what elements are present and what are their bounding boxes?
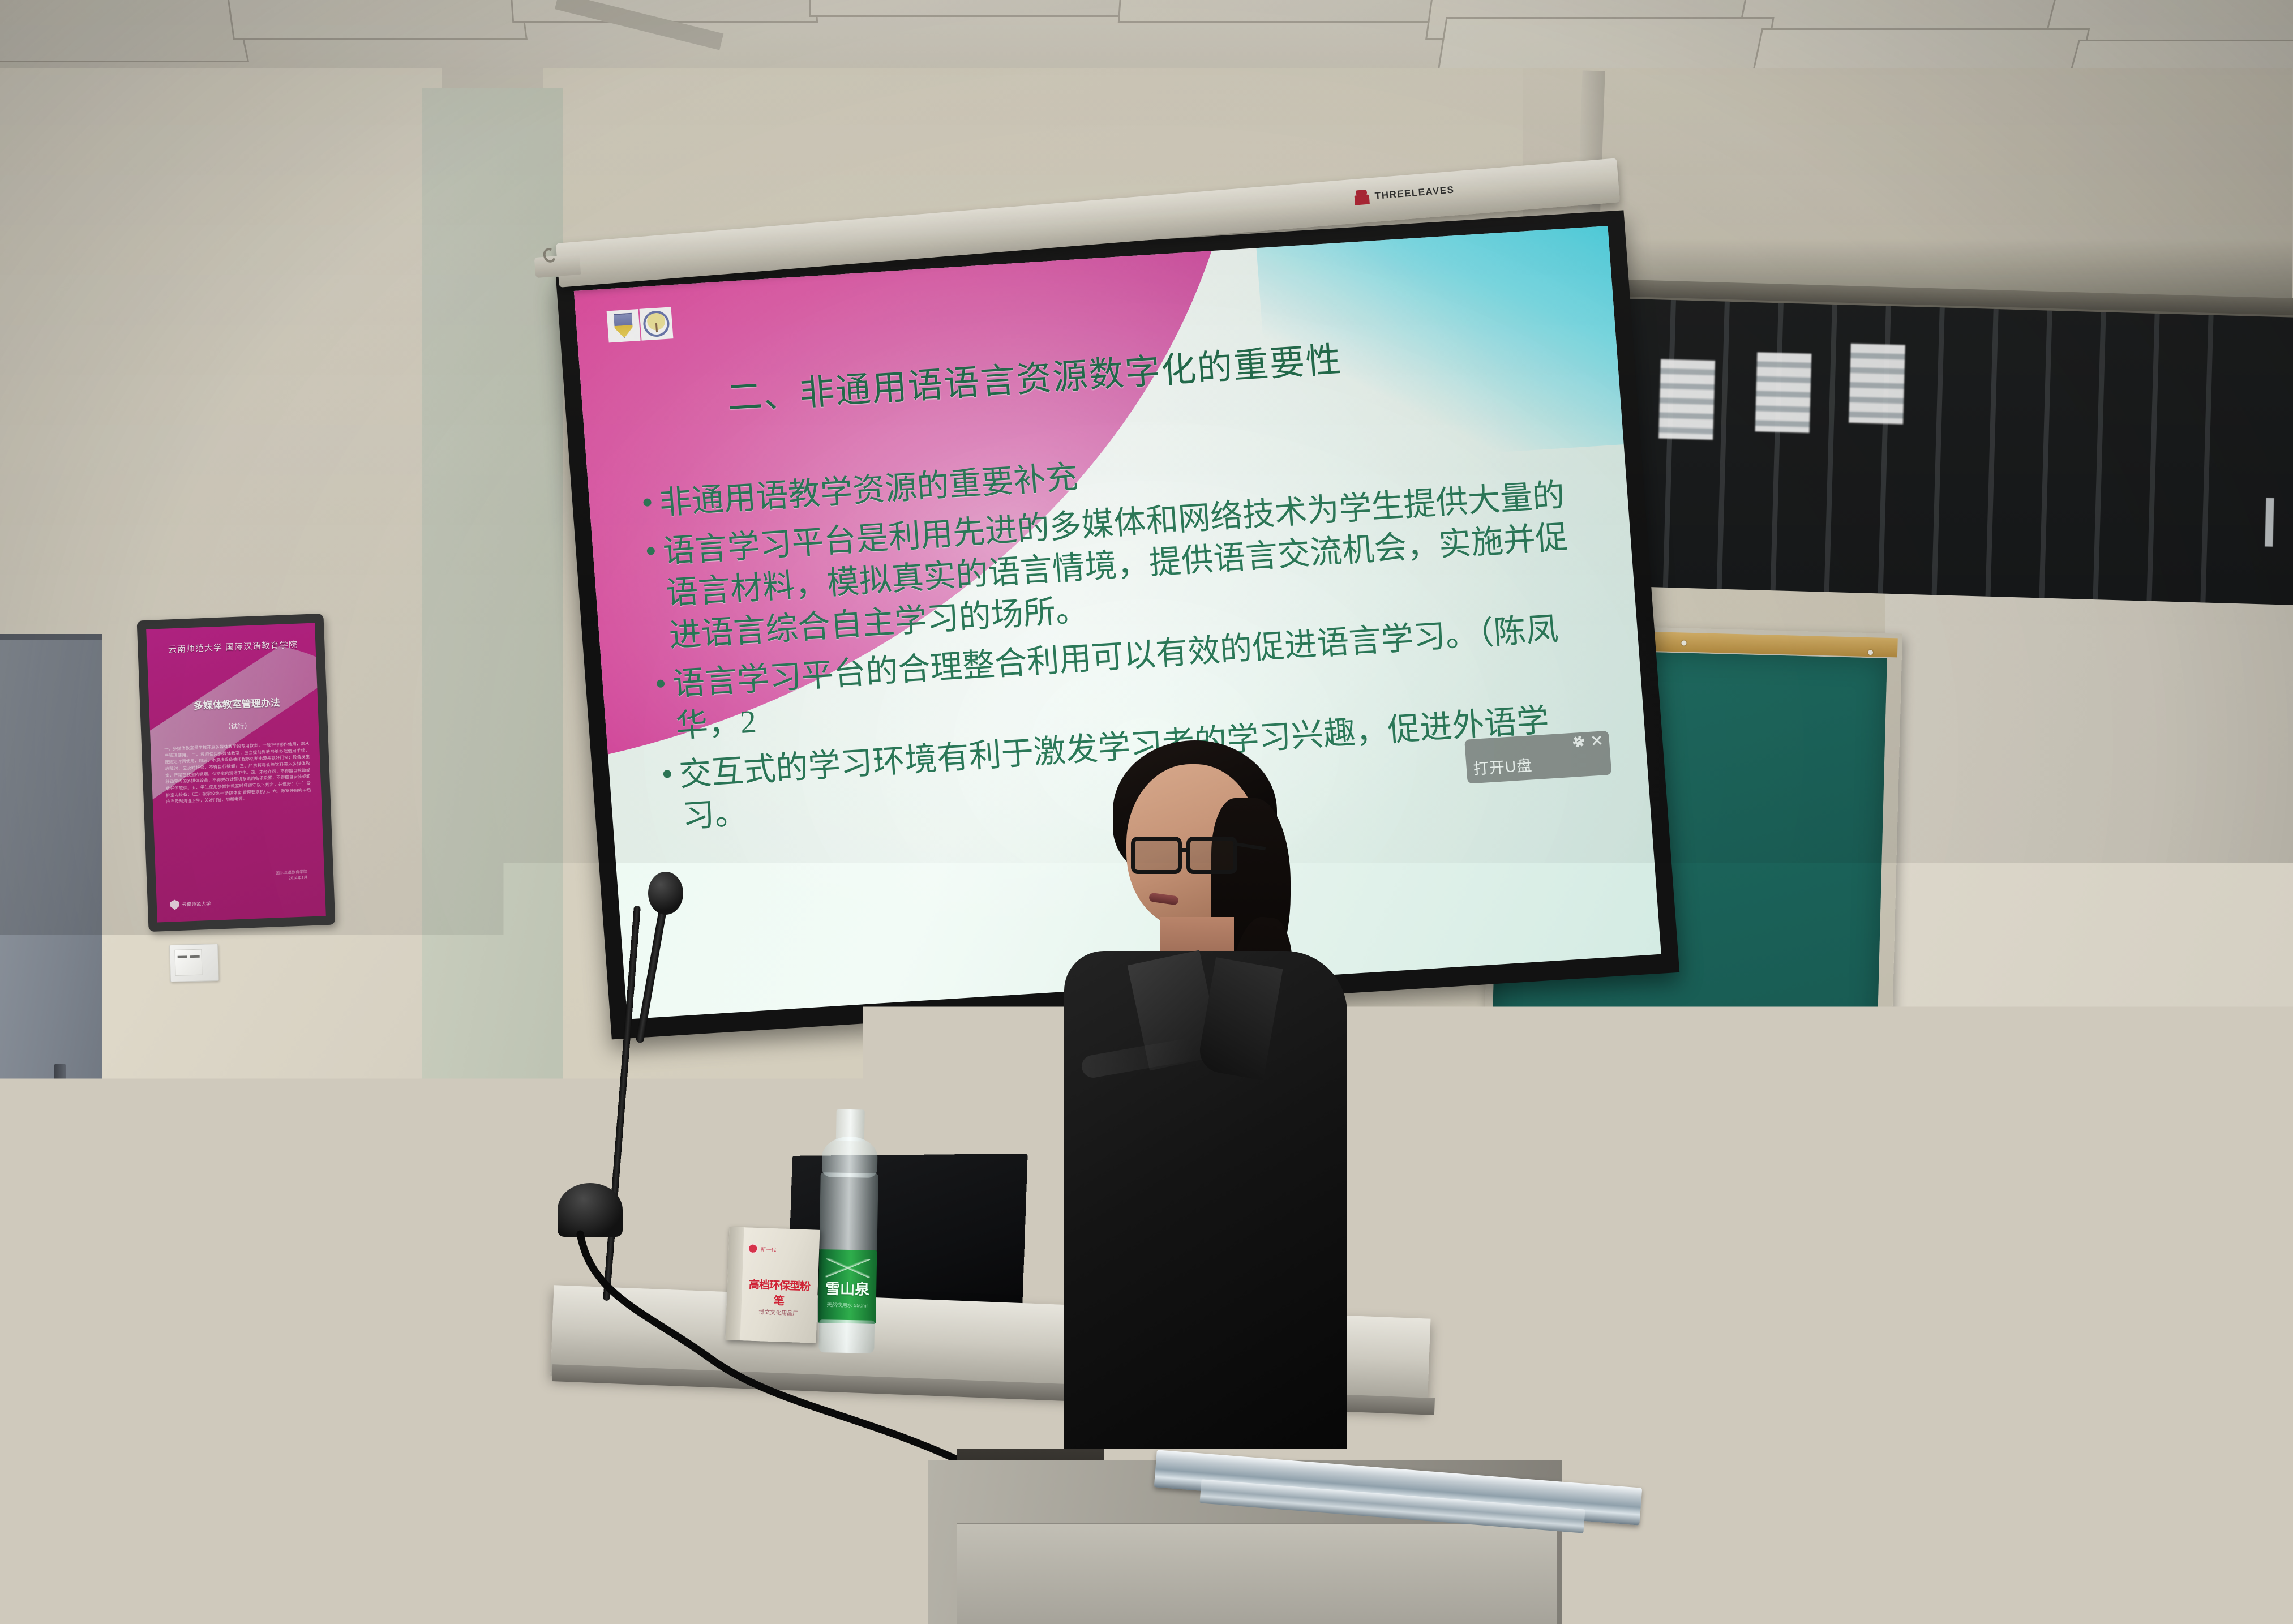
three-leaf-logo-icon (1354, 190, 1370, 205)
classroom-presentation-photo: 云南师范大学 国际汉语教育学院 多媒体教室管理办法 （试行） 一、多媒体教室是学… (0, 0, 2293, 1624)
switch-rocker-left[interactable] (174, 949, 202, 976)
bottle-shoulder (822, 1136, 878, 1178)
left-cabinet-door[interactable] (0, 634, 102, 1189)
slide-logos (606, 307, 673, 342)
window-light-reflection (1849, 344, 1905, 425)
wall-light-switch[interactable] (169, 944, 219, 982)
presenter (1042, 730, 1358, 1443)
close-icon[interactable] (1591, 735, 1602, 747)
wall-above-window (1523, 68, 2292, 306)
usb-toast-label: 打开U盘 (1472, 753, 1533, 778)
poster-footer-date: 2014年1月 (276, 876, 307, 883)
bottle-label-sub: 天然饮用水 550ml (818, 1301, 876, 1309)
desk-drawer-panel[interactable] (957, 1523, 1557, 1624)
chalk-brand-icon (748, 1243, 758, 1254)
tree-emblem-logo-icon (639, 307, 673, 340)
microphone-head (648, 872, 683, 915)
mountain-icon (826, 1258, 870, 1278)
screen-roller-end (534, 254, 581, 278)
bottle-label: 雪山泉 天然饮用水 550ml (818, 1249, 877, 1324)
water-bottle[interactable]: 雪山泉 天然饮用水 550ml (813, 1109, 884, 1353)
poster-body-text: 一、多媒体教室是学校开展多媒体教学的专用教室，一般不得挪作他用，需从严管理使用。… (164, 740, 311, 805)
wall-poster: 云南师范大学 国际汉语教育学院 多媒体教室管理办法 （试行） 一、多媒体教室是学… (137, 614, 336, 932)
usb-notification-toast[interactable]: 打开U盘 (1464, 731, 1611, 784)
poster-logo-text: 云南师范大学 (182, 901, 211, 908)
window-latch (2265, 498, 2274, 546)
gear-icon[interactable] (1572, 736, 1584, 748)
bullet-dot-icon (657, 679, 665, 688)
bottle-brand-name: 雪山泉 (818, 1277, 877, 1299)
screen-brand-label: THREELEAVES (1374, 185, 1455, 202)
bullet-dot-icon (647, 547, 655, 555)
poster-shield-icon (170, 899, 179, 910)
poster-title: 多媒体教室管理办法 (166, 693, 308, 713)
microphone-base (558, 1183, 623, 1237)
glasses-bridge (1181, 848, 1190, 852)
bullet-dot-icon (663, 770, 671, 778)
bottle-upper-body (819, 1172, 878, 1253)
cabinet-handle[interactable] (54, 1064, 66, 1132)
glasses-left-lens-icon (1131, 837, 1182, 874)
chalk-box-title: 高档环保型粉笔 (745, 1276, 814, 1309)
chalk-brand-label: 新一代 (761, 1245, 776, 1253)
bottle-base (818, 1319, 875, 1353)
bullet-dot-icon (643, 498, 652, 507)
chalk-box-flap (726, 1227, 744, 1340)
chair-highlight (1975, 1336, 2077, 1523)
window-light-reflection (1755, 352, 1812, 433)
chalk-box[interactable]: 新一代 高档环保型粉笔 博文文化用品厂 (726, 1227, 820, 1343)
window-light-reflection (1658, 359, 1715, 440)
chalk-tray (1482, 1283, 1879, 1324)
chalk-box-maker: 博文文化用品厂 (744, 1306, 812, 1317)
left-lower-panel (0, 1138, 413, 1624)
glasses-right-lens-icon (1186, 837, 1237, 874)
university-crest-logo-icon (606, 309, 640, 342)
